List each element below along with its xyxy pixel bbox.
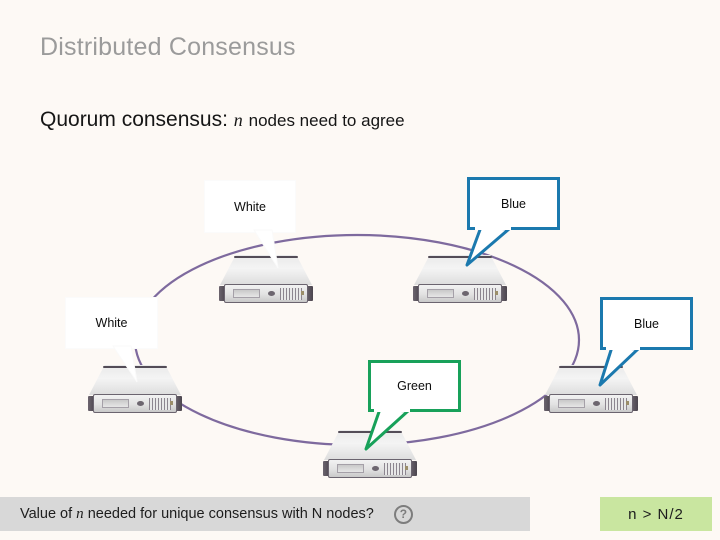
server-vents-icon: [474, 288, 496, 300]
question-text: Value of n needed for unique consensus w…: [20, 506, 374, 523]
callout-blue-top-label: Blue: [467, 177, 560, 230]
server-led-icon: [301, 291, 304, 295]
question-mark-icon[interactable]: ?: [394, 505, 413, 524]
server-drive-slot: [337, 464, 364, 473]
server-front-panel: [418, 284, 502, 303]
callout-green-tail: [362, 407, 442, 467]
server-led-icon: [170, 401, 173, 405]
callout-white-top-label: White: [204, 180, 296, 233]
page-title: Distributed Consensus: [40, 33, 296, 62]
subtitle-rest: nodes need to agree: [249, 111, 405, 130]
subtitle: Quorum consensus: n nodes need to agree: [40, 108, 405, 132]
question-rest: needed for unique consensus with N nodes…: [88, 506, 374, 522]
question-lead: Value of: [20, 506, 72, 522]
server-power-button-icon: [462, 291, 469, 296]
server-drive-slot: [427, 289, 454, 298]
subtitle-lead: Quorum consensus:: [40, 108, 228, 131]
callout-white-left-label: White: [65, 297, 158, 349]
callout-blue-top[interactable]: Blue: [467, 177, 560, 230]
slide-canvas: Distributed Consensus Quorum consensus: …: [0, 0, 720, 540]
callout-blue-right[interactable]: Blue: [600, 297, 693, 350]
server-power-button-icon: [268, 291, 275, 296]
callout-white-left[interactable]: White: [65, 297, 158, 349]
server-drive-slot: [558, 399, 585, 408]
consensus-ring-diagram: White Blue White Blue: [0, 150, 720, 495]
question-variable-n: n: [76, 506, 84, 522]
callout-white-top[interactable]: White: [204, 180, 296, 233]
subtitle-variable-n: n: [234, 110, 243, 130]
callout-green-label: Green: [368, 360, 461, 412]
server-drive-slot: [233, 289, 260, 298]
callout-white-top-tail: [226, 230, 296, 290]
callout-white-left-tail: [85, 346, 165, 406]
callout-blue-right-label: Blue: [600, 297, 693, 350]
callout-blue-top-tail: [461, 225, 541, 285]
callout-blue-right-tail: [586, 345, 666, 405]
callout-green-bottom[interactable]: Green: [368, 360, 461, 412]
answer-badge: n > N/2: [600, 497, 712, 531]
question-bar: Value of n needed for unique consensus w…: [0, 497, 530, 531]
server-led-icon: [495, 291, 498, 295]
